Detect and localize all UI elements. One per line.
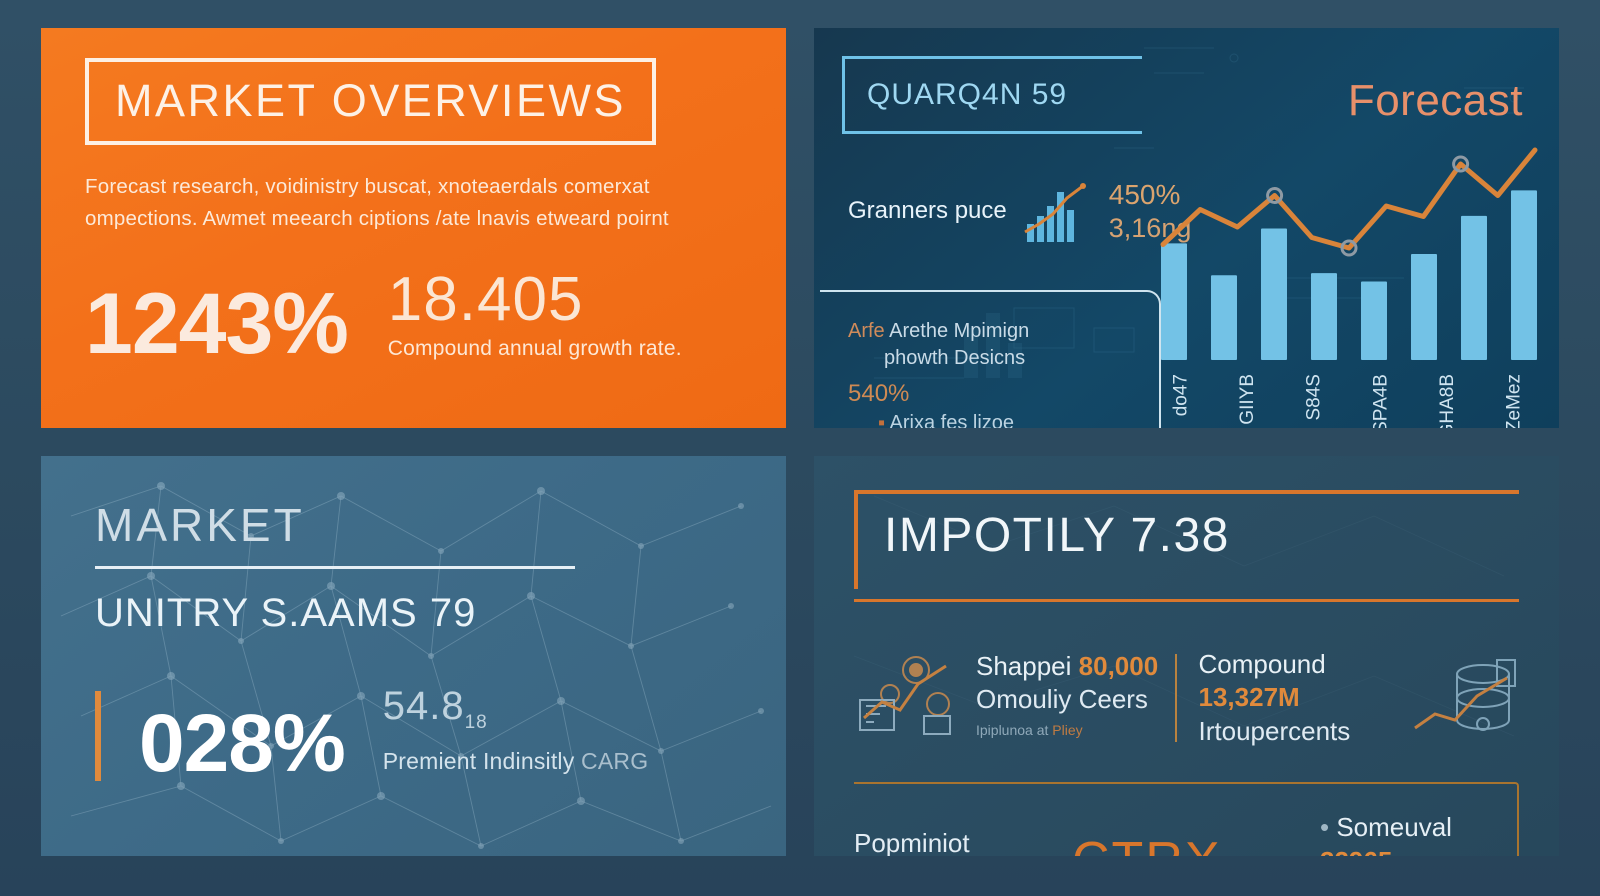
impact-cell-1-footnote: Ipiplunoa at Pliey (976, 722, 1158, 738)
chart-markers (1268, 157, 1468, 255)
chart-tick-label: GIIYB (1237, 374, 1258, 425)
impact-bottom-list-item-1: • Someuval 32965 (1320, 810, 1517, 856)
forecast-note-line-3: 540% (848, 380, 1139, 408)
panel-industry: MARKET UNITRY S.AAMS 79 028% 54.818 Prem… (41, 456, 786, 856)
industry-subheading: UNITRY S.AAMS 79 (95, 591, 732, 636)
impact-cell-2: Compound 13,327M Irtoupercents (1199, 648, 1520, 748)
impact-cell-1-line-1: Shappei 80,000 (976, 650, 1158, 683)
forecast-bar-chart: do47GIIYBS84SSPA4BGHA8BZeMez (1149, 128, 1549, 428)
impact-cell-1: Shappei 80,000 Omouliy Ceers Ipiplunoa a… (854, 648, 1175, 740)
page-title: MARKET OVERVIEWS (115, 78, 626, 123)
impact-cells: Shappei 80,000 Omouliy Ceers Ipiplunoa a… (854, 648, 1519, 748)
chart-tick-labels: do47GIIYBS84SSPA4BGHA8BZeMez (1170, 374, 1524, 428)
impact-cell-divider (1175, 654, 1177, 742)
impact-bottom-list-item-1-value: 32965 (1320, 846, 1392, 856)
chart-tick-label: SPA4B (1370, 374, 1391, 428)
bar-chart-svg: do47GIIYBS84SSPA4BGHA8BZeMez (1149, 128, 1549, 428)
impact-cell-2-text: Compound 13,327M Irtoupercents (1199, 648, 1398, 748)
impact-bottom-zone: Popminiot Key players CTRX • Someuval 32… (854, 782, 1519, 856)
market-overview-secondary-group: 18.405 Compound annual growth rate. (388, 269, 682, 365)
impact-cell-2-line-1: Compound 13,327M (1199, 648, 1398, 715)
industry-side-caption: Premient Indinsitly (383, 748, 575, 774)
panel-market-overview: MARKET OVERVIEWS Forecast research, void… (41, 28, 786, 428)
chart-tick-label: S84S (1304, 374, 1325, 420)
impact-title-frame: IMPOTILY 7.38 (854, 490, 1519, 589)
bullet-icon: • (1320, 812, 1329, 842)
forecast-mini-stat: Granners puce 450% 3,16ng (848, 178, 1191, 245)
impact-cell-1-value: 80,000 (1079, 651, 1159, 681)
impact-title: IMPOTILY 7.38 (884, 508, 1519, 563)
impact-cell-1-footnote-highlight: Pliey (1052, 722, 1082, 738)
impact-cell-2-value: 13,327M (1199, 682, 1300, 712)
market-overview-primary-value: 1243% (85, 285, 348, 364)
impact-bottom-list-item-1-prefix: Someuval (1336, 812, 1452, 842)
forecast-note-line-1: Arfe Arethe Mpimign (848, 318, 1139, 345)
market-overview-body-text: Forecast research, voidinistry buscat, x… (85, 171, 742, 235)
forecast-note-line-4: ▪ Arixa fes lizoe (878, 412, 1139, 428)
forecast-note-line-1-text: Arethe Mpimign (889, 320, 1029, 342)
infographic-dashboard: MARKET OVERVIEWS Forecast research, void… (0, 0, 1600, 896)
impact-cell-1-text: Shappei 80,000 Omouliy Ceers Ipiplunoa a… (976, 650, 1158, 739)
forecast-mini-label: Granners puce (848, 197, 1007, 226)
chart-bar (1361, 282, 1387, 360)
impact-cell-1-line-2: Omouliy Ceers (976, 683, 1158, 716)
industry-stat-row: 028% 54.818 Premient Indinsitly CARG (95, 684, 732, 781)
bullet-icon: ▪ (878, 412, 885, 428)
chart-bar (1461, 216, 1487, 360)
forecast-note-box: Arfe Arethe Mpimign phowth Desicns 540% … (820, 290, 1161, 428)
panel-forecast: QUARQ4N 59 Forecast Granners puce 450% 3… (814, 28, 1559, 428)
industry-side-caption-group: Premient Indinsitly CARG (383, 748, 649, 775)
forecast-note-line-4-text: Arixa fes lizoe (890, 412, 1015, 428)
ctrx-logo: CTRX (1072, 831, 1302, 856)
data-cylinder-icon (1411, 652, 1519, 744)
chart-tick-label: GHA8B (1437, 374, 1458, 428)
forecast-badge: QUARQ4N 59 (842, 56, 1142, 134)
forecast-note-highlight: Arfe (848, 320, 885, 342)
impact-cell-2-label-prefix: Compound (1199, 649, 1326, 679)
market-overview-stat-row: 1243% 18.405 Compound annual growth rate… (85, 269, 742, 365)
panel-impact: IMPOTILY 7.38 (814, 456, 1559, 856)
industry-side-caption-grey: CARG (581, 748, 648, 774)
chart-bar (1511, 190, 1537, 360)
impact-cell-1-footnote-text: Ipiplunoa at (976, 722, 1048, 738)
market-overview-title-box: MARKET OVERVIEWS (85, 58, 656, 145)
market-overview-secondary-value: 18.405 (388, 269, 682, 331)
chart-bar (1261, 229, 1287, 360)
chart-bar (1411, 254, 1437, 360)
impact-bottom-list: • Someuval 32965 • Cmvity Ceers (1320, 810, 1517, 856)
industry-side-value-group: 54.818 (383, 684, 649, 734)
industry-side-value: 54.8 (383, 684, 465, 728)
chart-bar (1211, 275, 1237, 360)
chart-tick-label: do47 (1170, 374, 1191, 416)
impact-bottom-label: Popminiot Key players (854, 827, 1054, 856)
industry-accent-bar (95, 691, 101, 781)
chart-tick-label: ZeMez (1504, 374, 1525, 428)
forecast-note-line-2: phowth Desicns (884, 345, 1139, 372)
industry-side-group: 54.818 Premient Indinsitly CARG (383, 684, 649, 781)
market-overview-secondary-caption: Compound annual growth rate. (388, 337, 682, 361)
sparkline-chart-icon (1021, 180, 1095, 244)
impact-bottom-label-line-1: Popminiot (854, 827, 1054, 856)
chart-bar (1161, 243, 1187, 360)
forecast-label: Forecast (1348, 76, 1523, 126)
analytics-gear-icon (854, 648, 962, 740)
impact-cell-1-label-prefix: Shappei (976, 651, 1071, 681)
industry-primary-value: 028% (139, 706, 345, 781)
impact-cell-2-line-2: Irtoupercents (1199, 715, 1398, 748)
industry-divider (95, 566, 575, 569)
industry-content: MARKET UNITRY S.AAMS 79 028% 54.818 Prem… (95, 498, 732, 781)
industry-heading: MARKET (95, 498, 732, 552)
forecast-badge-title: QUARQ4N 59 (867, 78, 1067, 112)
industry-side-value-sub: 18 (465, 712, 488, 733)
chart-bar (1311, 273, 1337, 360)
